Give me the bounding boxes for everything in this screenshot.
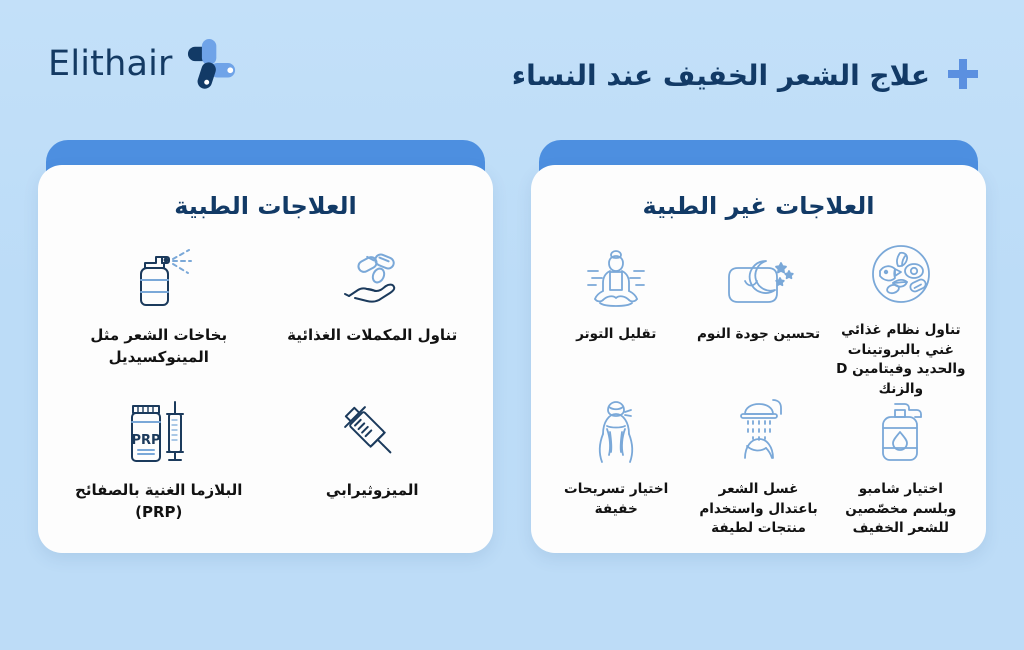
hair-bun-woman-icon xyxy=(579,392,653,470)
items-row: اختيار شامبو وبلسم مخصّصين للشعر الخفيف xyxy=(545,392,972,542)
item-label: اختيار شامبو وبلسم مخصّصين للشعر الخفيف xyxy=(836,480,966,539)
hand-with-pills-icon xyxy=(336,237,408,315)
syringe-diagonal-icon xyxy=(336,392,408,470)
svg-text:PRP: PRP xyxy=(131,433,160,448)
pillow-moon-stars-icon xyxy=(719,237,799,315)
item-label: غسل الشعر باعتدال واستخدام منتجات لطيفة xyxy=(693,480,823,539)
item-healthy-diet[interactable]: تناول نظام غذائي غني بالبروتينات والحديد… xyxy=(830,237,972,392)
item-label: تحسين جودة النوم xyxy=(697,325,820,345)
item-sleep-quality[interactable]: تحسين جودة النوم xyxy=(687,237,829,392)
item-light-hairstyles[interactable]: اختيار تسريحات خفيفة xyxy=(545,392,687,542)
card-title-non-medical: العلاجات غير الطبية xyxy=(642,191,874,221)
page-title: علاج الشعر الخفيف عند النساء xyxy=(512,59,930,93)
items-row: الميزوثيرابي PRP xyxy=(52,392,479,542)
item-label: تقليل التوتر xyxy=(576,325,656,345)
brand-logo: Elithair xyxy=(48,38,237,90)
items-row: تناول المكملات الغذائية xyxy=(52,237,479,392)
infographic-page: Elithair علاج الشعر الخفيف عند النساء ال… xyxy=(0,0,1024,650)
card-non-medical-treatments: العلاجات غير الطبية xyxy=(531,140,986,553)
shower-head-icon xyxy=(721,392,797,470)
item-prp[interactable]: PRP xyxy=(52,392,266,542)
spray-bottle-icon xyxy=(123,237,195,315)
item-mesotherapy[interactable]: الميزوثيرابي xyxy=(266,392,480,542)
item-label: البلازما الغنية بالصفائح (PRP) xyxy=(58,480,260,524)
item-shampoo-conditioner[interactable]: اختيار شامبو وبلسم مخصّصين للشعر الخفيف xyxy=(830,392,972,542)
item-hair-sprays[interactable]: بخاخات الشعر مثل المينوكسيديل xyxy=(52,237,266,392)
prp-vial-syringe-icon: PRP xyxy=(117,392,201,470)
items-grid: تناول المكملات الغذائية xyxy=(52,227,479,542)
item-label: تناول المكملات الغذائية xyxy=(287,325,457,347)
meditation-yoga-icon xyxy=(576,237,656,315)
card-medical-treatments: العلاجات الطبية xyxy=(38,140,493,553)
item-gentle-washing[interactable]: غسل الشعر باعتدال واستخدام منتجات لطيفة xyxy=(687,392,829,542)
card-body: العلاجات غير الطبية xyxy=(531,165,986,553)
items-grid: تناول نظام غذائي غني بالبروتينات والحديد… xyxy=(545,227,972,542)
card-body: العلاجات الطبية xyxy=(38,165,493,553)
plus-icon xyxy=(944,57,982,95)
item-label: الميزوثيرابي xyxy=(326,480,419,502)
logo-wordmark: Elithair xyxy=(48,44,173,84)
item-supplements[interactable]: تناول المكملات الغذائية xyxy=(266,237,480,392)
title-block: علاج الشعر الخفيف عند النساء xyxy=(512,40,982,111)
header: Elithair علاج الشعر الخفيف عند النساء xyxy=(0,0,1024,125)
item-reduce-stress[interactable]: تقليل التوتر xyxy=(545,237,687,392)
card-title-medical: العلاجات الطبية xyxy=(174,191,357,221)
item-label: بخاخات الشعر مثل المينوكسيديل xyxy=(58,325,260,369)
healthy-plate-icon xyxy=(864,237,938,311)
cards-container: العلاجات الطبية xyxy=(0,140,1024,560)
elithair-logo-icon xyxy=(187,38,237,90)
item-label: اختيار تسريحات خفيفة xyxy=(551,480,681,519)
shampoo-pump-bottle-icon xyxy=(869,392,933,470)
items-row: تناول نظام غذائي غني بالبروتينات والحديد… xyxy=(545,237,972,392)
item-label: تناول نظام غذائي غني بالبروتينات والحديد… xyxy=(836,321,966,400)
